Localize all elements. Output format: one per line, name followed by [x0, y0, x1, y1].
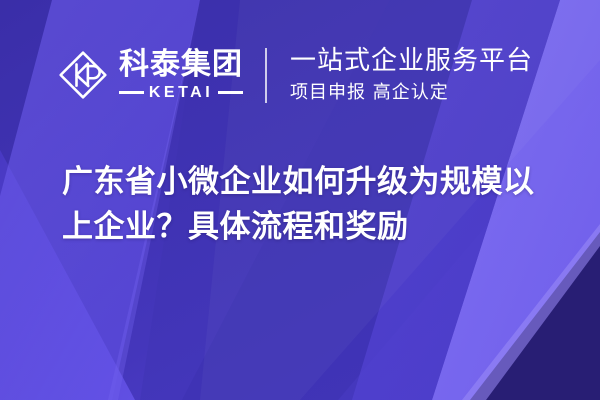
company-logo[interactable]: 科泰集团 KETAI — [57, 38, 243, 112]
banner-content: 科泰集团 KETAI 一站式企业服务平台 项目申报 高企认定 广东省小微企业如何… — [0, 0, 600, 400]
slogan-sub: 项目申报 高企认定 — [290, 83, 533, 103]
brand-row: 科泰集团 KETAI 一站式企业服务平台 项目申报 高企认定 — [57, 38, 533, 112]
slogan-main: 一站式企业服务平台 — [290, 47, 533, 76]
logo-en-row: KETAI — [119, 85, 243, 101]
headline: 广东省小微企业如何升级为规模以 上企业？具体流程和奖励 — [62, 160, 562, 250]
headline-line-1: 广东省小微企业如何升级为规模以 — [62, 160, 562, 205]
logo-wordmark: 科泰集团 KETAI — [119, 50, 243, 101]
logo-rule-right — [218, 91, 243, 94]
logo-rule-left — [119, 91, 144, 94]
headline-line-2: 上企业？具体流程和奖励 — [62, 205, 562, 250]
logo-mark-svg — [57, 49, 109, 101]
logo-name-en: KETAI — [149, 85, 213, 101]
ketai-diamond-monogram-icon — [57, 49, 109, 101]
slogan-group: 一站式企业服务平台 项目申报 高企认定 — [290, 47, 533, 102]
vertical-divider-icon — [265, 48, 267, 103]
logo-name-cn: 科泰集团 — [119, 50, 243, 80]
promo-banner: 科泰集团 KETAI 一站式企业服务平台 项目申报 高企认定 广东省小微企业如何… — [0, 0, 600, 400]
